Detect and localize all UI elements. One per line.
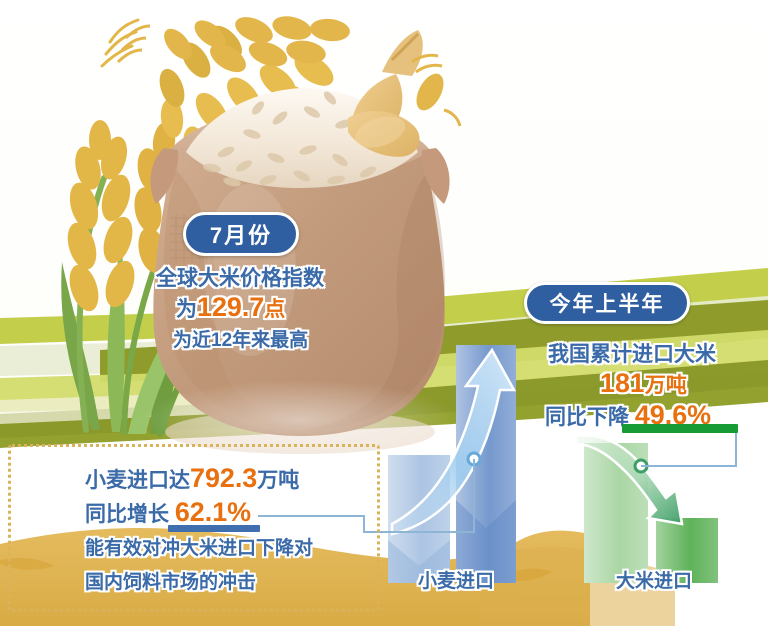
rice-import-label: 我国累计进口大米 bbox=[548, 338, 716, 368]
badge-month[interactable]: 7月份 bbox=[183, 212, 299, 256]
wheat-change-prefix: 同比增长 bbox=[85, 503, 169, 526]
bar-label-wheat: 小麦进口 bbox=[418, 566, 494, 593]
bar-label-rice: 大米进口 bbox=[616, 566, 692, 593]
rice-price-value: 129.7 bbox=[197, 292, 264, 322]
wheat-import-unit: 万吨 bbox=[257, 469, 299, 492]
rice-import-value-line: 181万吨 bbox=[600, 368, 687, 399]
rice-import-unit: 万吨 bbox=[645, 374, 687, 397]
rice-price-index-label: 全球大米价格指数 bbox=[156, 262, 324, 292]
wheat-import-prefix: 小麦进口达 bbox=[85, 469, 190, 492]
rice-import-value: 181 bbox=[600, 368, 645, 398]
rice-price-unit: 点 bbox=[264, 298, 285, 321]
wheat-import-value: 792.3 bbox=[190, 463, 257, 493]
infographic-canvas: 7月份 今年上半年 全球大米价格指数 为129.7点 为近12年来最高 我国累计… bbox=[0, 0, 768, 626]
rice-import-change-prefix: 同比下降 bbox=[545, 406, 629, 429]
wheat-change-underline bbox=[168, 525, 260, 532]
wheat-import-value-line: 小麦进口达792.3万吨 bbox=[85, 463, 299, 494]
wheat-note-line-2: 国内饲料市场的冲击 bbox=[85, 567, 256, 594]
wheat-import-change-line: 同比增长 62.1% bbox=[85, 497, 251, 528]
rice-price-prefix: 为 bbox=[176, 298, 197, 321]
badge-half-year[interactable]: 今年上半年 bbox=[524, 282, 690, 324]
rice-price-index-value-line: 为129.7点 bbox=[176, 292, 285, 323]
wheat-note-line-1: 能有效对冲大米进口下降对 bbox=[85, 533, 313, 560]
rice-price-note: 为近12年来最高 bbox=[173, 325, 308, 352]
wheat-change-value: 62.1% bbox=[175, 497, 251, 527]
rice-change-underline bbox=[622, 424, 738, 433]
